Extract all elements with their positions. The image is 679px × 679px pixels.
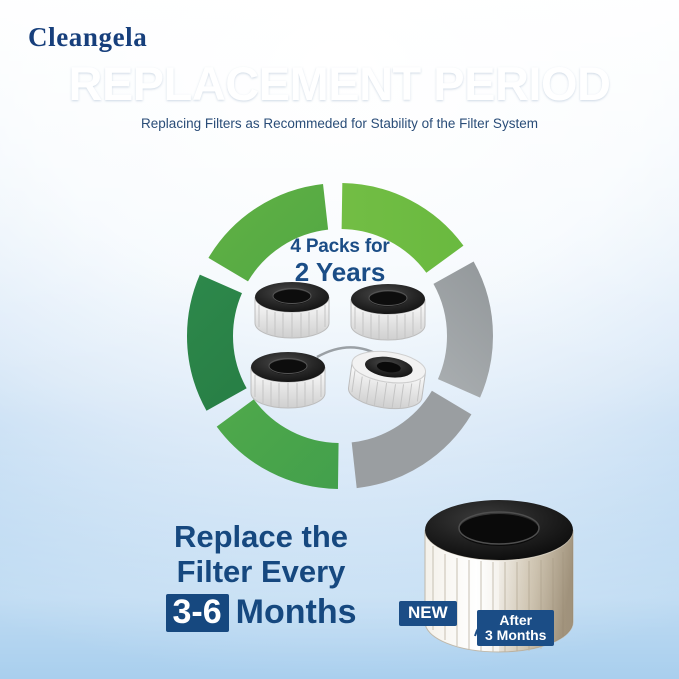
badge-new: NEW — [399, 601, 457, 626]
filter-cartridge-4 — [346, 347, 427, 413]
center-hole — [459, 514, 539, 546]
badge-after-line2: 3 Months — [485, 627, 546, 643]
badge-after-line1: After — [499, 612, 532, 628]
replacement-cycle-donut: 4 Packs for 2 Years — [169, 165, 511, 507]
filter-cartridge-2 — [351, 284, 425, 340]
donut-center-line1: 4 Packs for — [169, 237, 511, 257]
replace-line-1: Replace the — [96, 520, 426, 555]
filter-pack-illustration — [247, 275, 437, 415]
replace-line-3: 3-6Months — [96, 593, 426, 632]
used-filter-photo: NEW After 3 Months — [405, 488, 605, 673]
page-subtitle: Replacing Filters as Recommeded for Stab… — [0, 116, 679, 131]
brand-logo: Cleangela — [28, 22, 147, 53]
badge-after: After 3 Months — [477, 610, 554, 646]
filters-svg — [247, 275, 437, 420]
replace-interval-text: Replace the Filter Every 3-6Months — [96, 520, 426, 632]
interval-unit: Months — [236, 593, 357, 631]
page-title: REPLACEMENT PERIOD — [0, 56, 679, 111]
filter-cartridge-1 — [255, 282, 329, 338]
replace-line-2: Filter Every — [96, 555, 426, 590]
filter-cartridge-3 — [251, 352, 325, 408]
interval-highlight: 3-6 — [166, 594, 229, 632]
poster-canvas: Cleangela REPLACEMENT PERIOD Replacing F… — [0, 0, 679, 679]
